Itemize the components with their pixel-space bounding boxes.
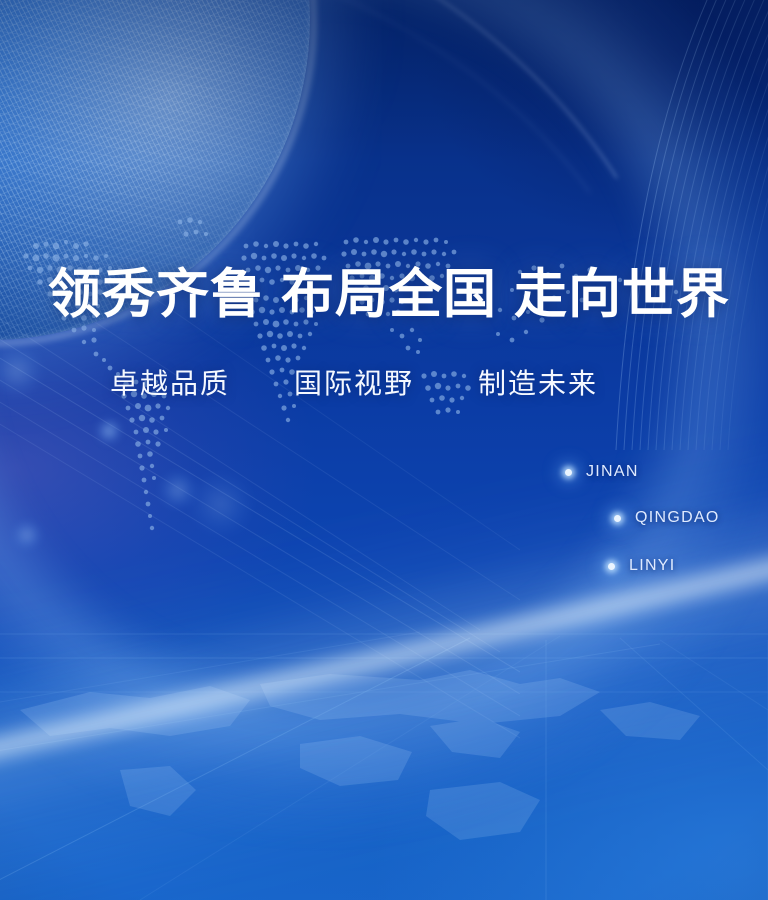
page-title: 领秀齐鲁布局全国走向世界	[48, 268, 730, 324]
city-label-linyi: LINYI	[629, 557, 676, 575]
map-pin-dot-icon	[614, 515, 621, 522]
city-marker-jinan[interactable]: JINAN	[565, 463, 639, 481]
headline-part-3: 走向世界	[514, 266, 730, 324]
map-pin-dot-icon	[565, 469, 572, 476]
subtitle-part-1: 卓越品质	[110, 370, 230, 401]
headline-part-2: 布局全国	[281, 266, 497, 324]
page-subtitle: 卓越品质国际视野制造未来	[110, 370, 598, 401]
city-label-qingdao: QINGDAO	[635, 509, 720, 527]
headline-part-1: 领秀齐鲁	[48, 266, 264, 324]
subtitle-part-3: 制造未来	[478, 370, 598, 401]
hero-banner: 领秀齐鲁布局全国走向世界 卓越品质国际视野制造未来 JINAN QINGDAO …	[0, 0, 768, 900]
city-label-jinan: JINAN	[586, 463, 639, 481]
subtitle-part-2: 国际视野	[294, 370, 414, 401]
map-pin-dot-icon	[608, 563, 615, 570]
city-marker-qingdao[interactable]: QINGDAO	[614, 509, 720, 527]
city-marker-linyi[interactable]: LINYI	[608, 557, 676, 575]
